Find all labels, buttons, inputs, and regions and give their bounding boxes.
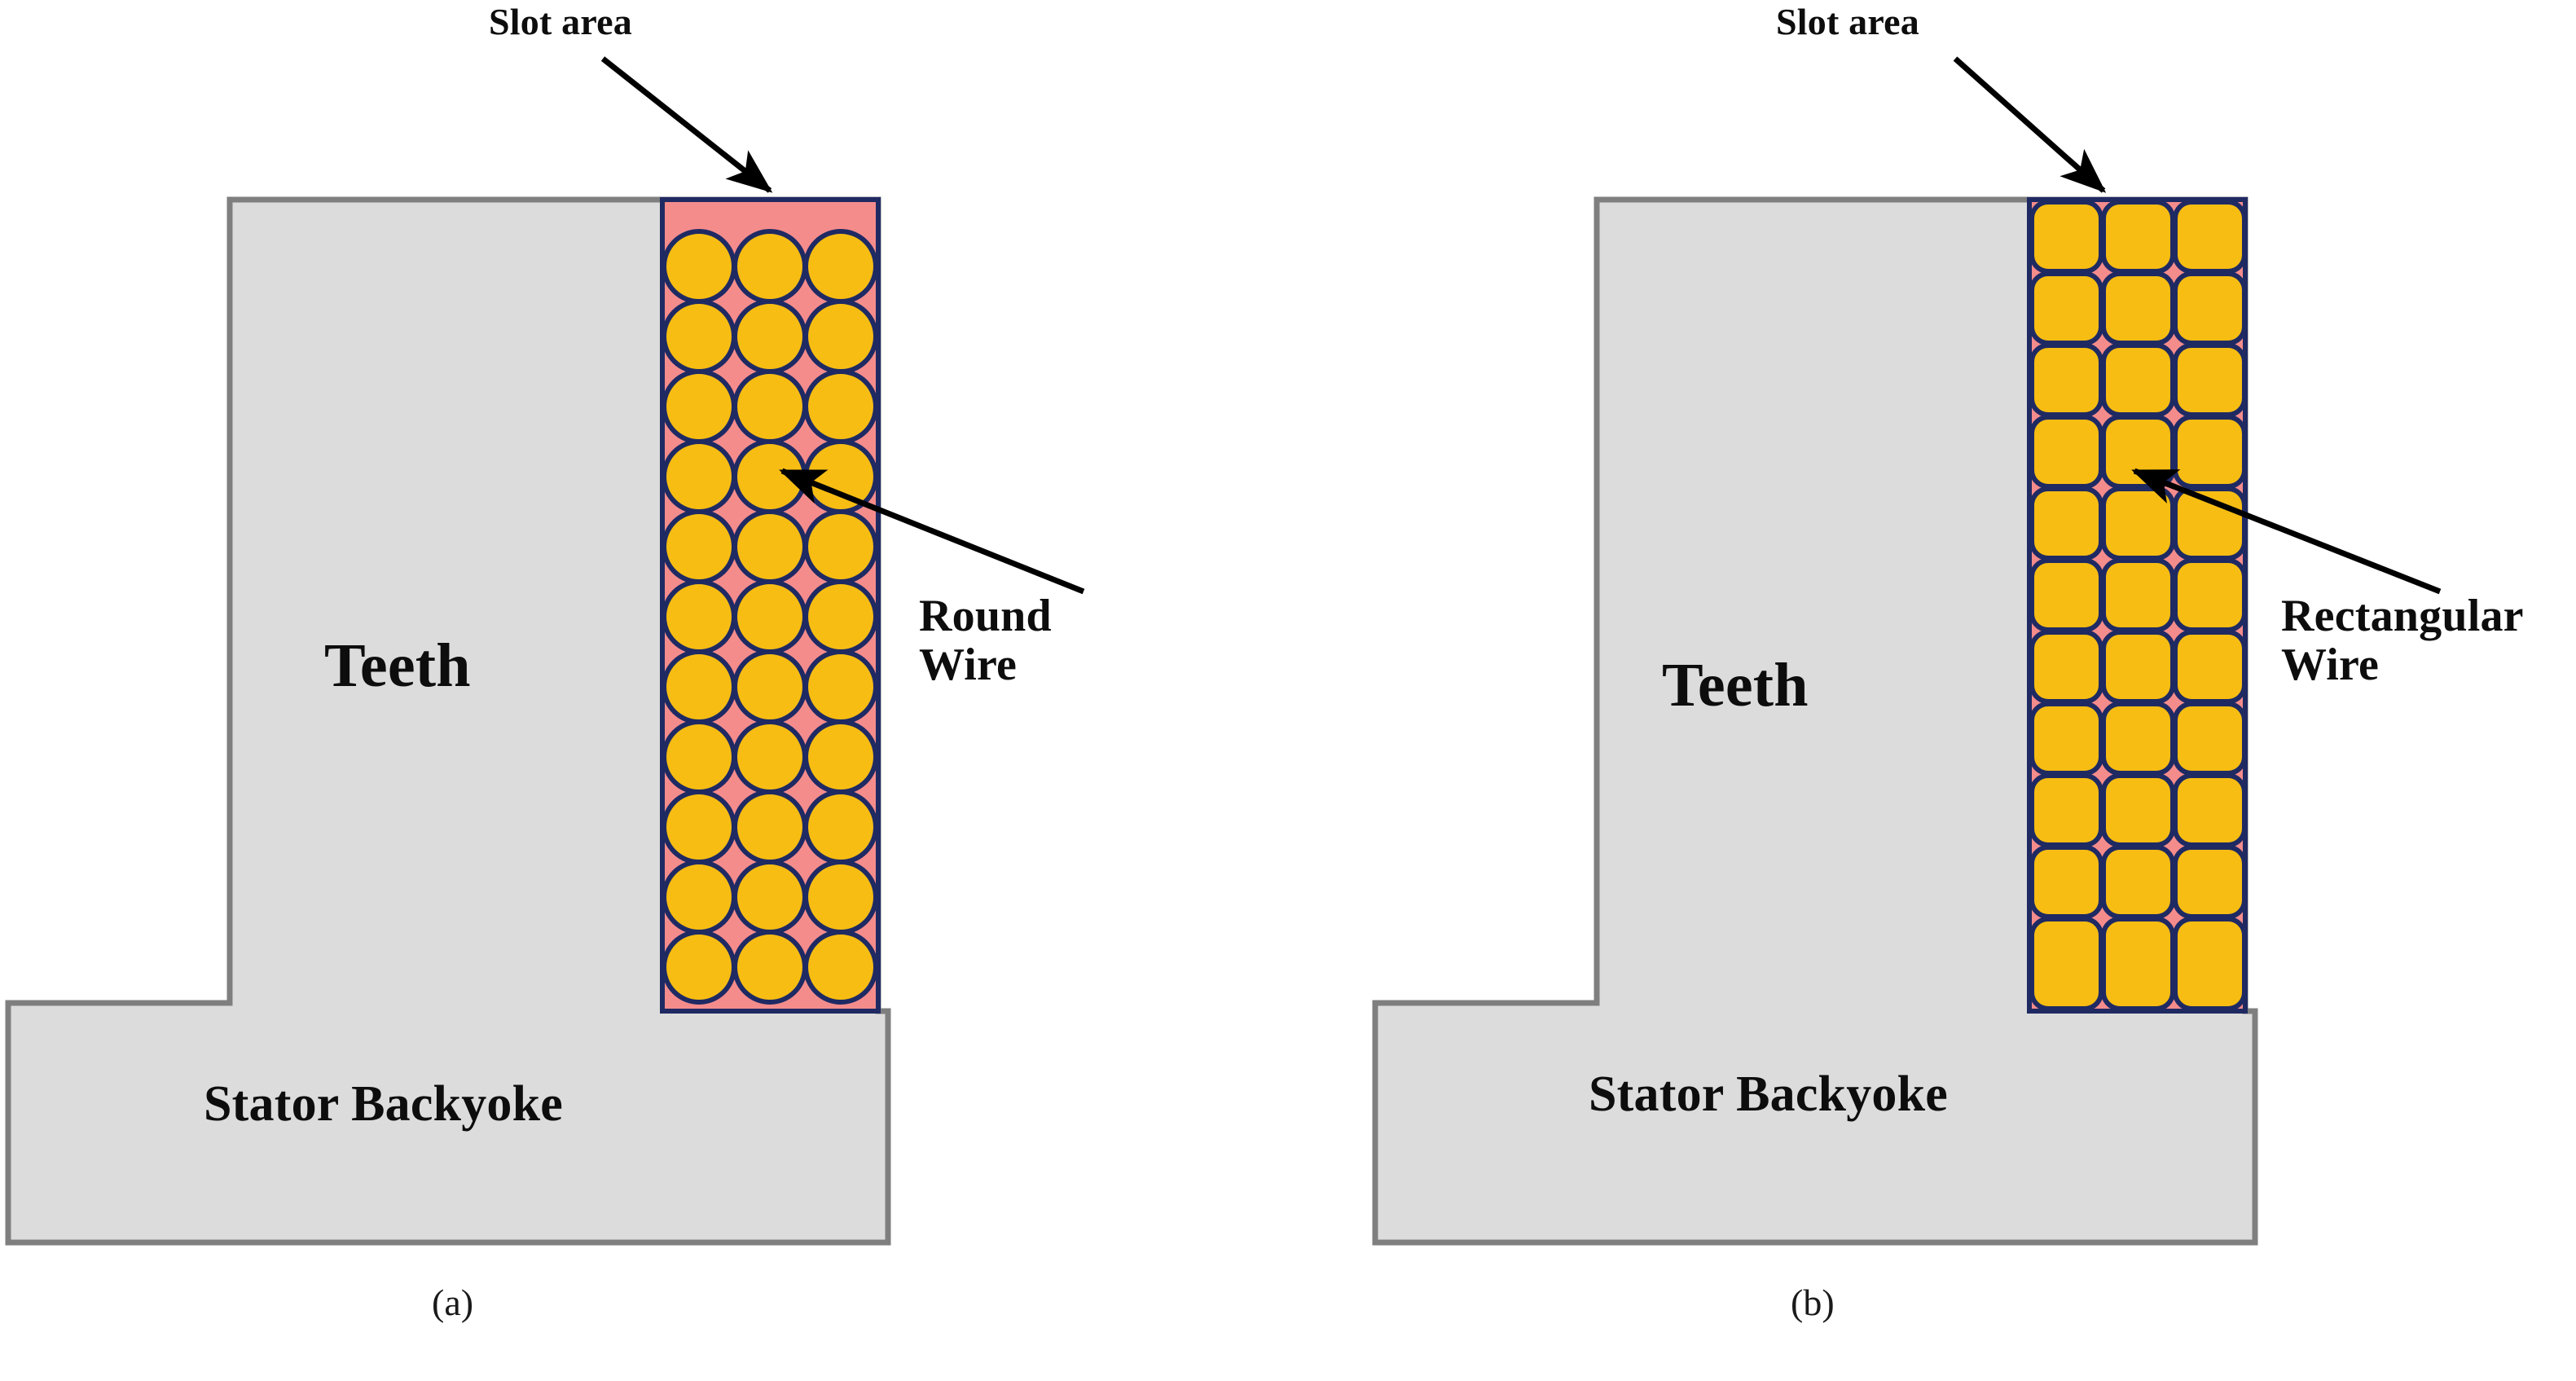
rect-wire [2032,561,2101,630]
stator-backyoke-label-b: Stator Backyoke [1589,1067,1948,1122]
round-wire [664,372,734,442]
rect-wire [2032,345,2101,415]
round-wire [735,512,805,582]
rect-wire [2103,417,2173,486]
round-wire [664,652,734,722]
rect-wire [2103,202,2173,271]
round-wire [735,582,805,652]
round-wire-label-line2: Wire [919,640,1017,690]
rect-wire [2175,704,2244,773]
rect-wire [2032,489,2101,558]
round-wire [664,722,734,792]
panel-b [1375,59,2440,1242]
rect-wire [2032,274,2101,343]
rect-wire [2103,345,2173,415]
figure-root: Slot area Teeth Stator Backyoke RoundWir… [0,0,2576,1381]
rect-wire [2175,561,2244,630]
round-wire [735,722,805,792]
round-wire [806,372,876,442]
round-wire [735,301,805,372]
round-wire-label: RoundWire [919,592,1052,690]
rect-wire [2175,417,2244,486]
rect-wire [2175,632,2244,701]
round-wire [806,231,876,301]
round-wire [806,932,876,1002]
slot-area-label-b: Slot area [1776,2,1919,42]
rect-wire-label-line2: Wire [2281,640,2379,690]
round-wire-bundle-a [664,231,876,1002]
rect-wire [2175,345,2244,415]
round-wire [664,231,734,301]
rect-wire [2175,919,2244,1009]
round-wire [806,652,876,722]
round-wire [735,652,805,722]
rect-wire [2032,202,2101,271]
rect-wire [2103,489,2173,558]
rectangular-wire-label: RectangularWire [2281,592,2524,690]
teeth-label-a: Teeth [324,632,471,699]
panel-caption-b: (b) [1791,1281,1835,1324]
round-wire [664,512,734,582]
rect-wire [2103,632,2173,701]
rect-wire [2032,704,2101,773]
round-wire [735,862,805,932]
round-wire [806,512,876,582]
rect-wire [2175,274,2244,343]
slot-area-label-a: Slot area [489,2,632,42]
rect-wire [2103,919,2173,1009]
round-wire [806,582,876,652]
rect-wire [2103,776,2173,845]
round-wire [735,792,805,862]
rect-wire [2032,919,2101,1009]
rect-wire [2103,704,2173,773]
round-wire [664,932,734,1002]
rect-wire [2175,847,2244,917]
round-wire [806,301,876,372]
rect-wire [2032,632,2101,701]
rectangular-wire-bundle-b [2032,202,2244,1009]
round-wire [664,442,734,512]
round-wire [735,231,805,301]
round-wire [806,722,876,792]
rect-wire-label-line1: Rectangular [2281,591,2524,641]
stator-backyoke-label-a: Stator Backyoke [204,1077,563,1132]
round-wire [664,301,734,372]
round-wire [664,582,734,652]
rect-wire [2032,847,2101,917]
round-wire-label-line1: Round [919,591,1052,641]
rect-wire [2103,847,2173,917]
round-wire [735,372,805,442]
rect-wire [2175,776,2244,845]
round-wire [664,862,734,932]
rect-wire [2103,561,2173,630]
rect-wire [2103,274,2173,343]
round-wire [664,792,734,862]
rect-wire [2032,417,2101,486]
slot-area-leader-a [603,59,770,191]
teeth-label-b: Teeth [1662,652,1809,719]
round-wire [806,792,876,862]
panel-caption-a: (a) [432,1281,473,1324]
slot-area-leader-b [1955,59,2103,191]
round-wire [806,862,876,932]
round-wire [735,932,805,1002]
rect-wire [2175,202,2244,271]
rect-wire [2032,776,2101,845]
